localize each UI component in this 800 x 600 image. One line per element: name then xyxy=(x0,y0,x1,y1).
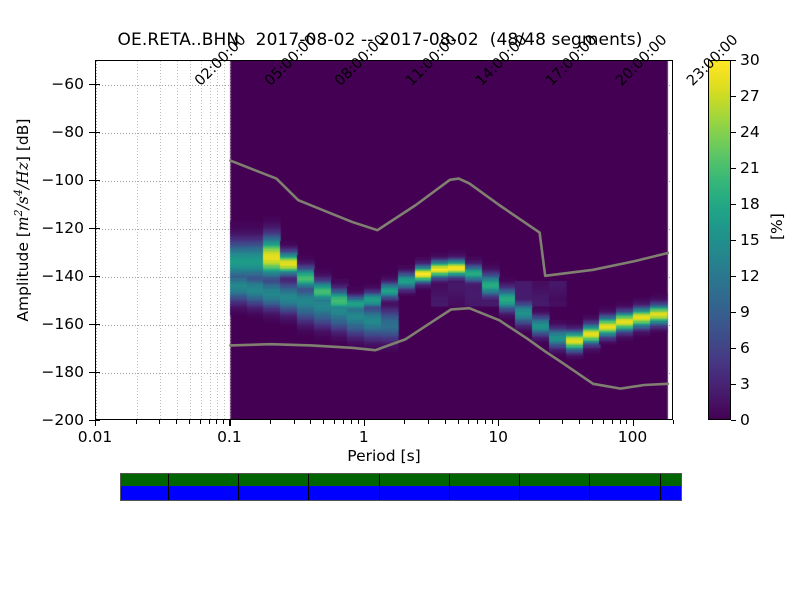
x-axis-tick-minor xyxy=(603,420,604,424)
x-axis-tick-minor xyxy=(323,420,324,424)
colorbar-tick xyxy=(731,420,736,421)
x-axis-title: Period [s] xyxy=(95,447,673,465)
x-axis-tick-major xyxy=(229,420,230,426)
x-axis-tick-minor xyxy=(485,420,486,424)
y-axis-tick-inner xyxy=(95,84,100,85)
coverage-band-bottom xyxy=(121,486,681,500)
coverage-band-top xyxy=(121,474,681,486)
x-axis-tick-minor xyxy=(673,420,674,424)
colorbar-title: [%] xyxy=(768,213,786,240)
x-axis-tick-minor xyxy=(404,420,405,424)
x-axis-tick-minor xyxy=(626,420,627,424)
colorbar-tick xyxy=(731,60,736,61)
y-axis-title-tail: ] [dB] xyxy=(14,119,32,163)
x-axis-tick-major xyxy=(633,420,634,426)
y-axis-tick-label: −200 xyxy=(0,411,84,429)
colorbar-tick-label: 12 xyxy=(740,267,760,285)
x-axis-tick-minor xyxy=(343,420,344,424)
colorbar-tick xyxy=(731,276,736,277)
x-axis-tick-minor xyxy=(620,420,621,424)
nlnm-curve xyxy=(230,308,667,388)
y-axis-title-text: Amplitude [ xyxy=(14,231,32,321)
y-axis-tick-inner xyxy=(95,132,100,133)
y-axis-tick-inner xyxy=(95,180,100,181)
x-axis-tick-minor xyxy=(612,420,613,424)
x-axis-tick-minor xyxy=(492,420,493,424)
colorbar-tick-label: 9 xyxy=(740,303,750,321)
colorbar-tick xyxy=(731,384,736,385)
x-axis-tick-minor xyxy=(477,420,478,424)
x-axis-tick-minor xyxy=(428,420,429,424)
colorbar-tick xyxy=(731,240,736,241)
y-axis-tick-inner xyxy=(95,324,100,325)
x-axis-tick-minor xyxy=(334,420,335,424)
colorbar-tick-label: 3 xyxy=(740,375,750,393)
y-axis-tick-inner xyxy=(95,372,100,373)
x-axis-tick-minor xyxy=(216,420,217,424)
x-axis-tick-minor xyxy=(159,420,160,424)
x-axis-tick-minor xyxy=(209,420,210,424)
colorbar-tick-label: 18 xyxy=(740,195,760,213)
x-axis-tick-label: 0.1 xyxy=(217,428,242,446)
coverage-tick xyxy=(519,474,520,500)
x-axis-tick-label: 0.01 xyxy=(78,428,113,446)
colorbar-tick xyxy=(731,348,736,349)
x-axis-tick-minor xyxy=(358,420,359,424)
coverage-tick xyxy=(589,474,590,500)
coverage-tick xyxy=(660,474,661,500)
y-axis-title-units: m2/s4/Hz xyxy=(14,162,32,231)
coverage-tick xyxy=(379,474,380,500)
coverage-tick xyxy=(308,474,309,500)
x-axis-tick-minor xyxy=(294,420,295,424)
colorbar-tick-label: 27 xyxy=(740,87,760,105)
x-axis-tick-minor xyxy=(445,420,446,424)
colorbar-tick-label: 15 xyxy=(740,231,760,249)
x-axis-tick-minor xyxy=(468,420,469,424)
colorbar-tick xyxy=(731,132,736,133)
x-axis-tick-minor xyxy=(310,420,311,424)
x-axis-tick-minor xyxy=(562,420,563,424)
colorbar-gradient xyxy=(709,61,730,419)
coverage-tick xyxy=(168,474,169,500)
coverage-tick xyxy=(449,474,450,500)
x-axis-tick-label: 1 xyxy=(359,428,369,446)
x-axis-tick-minor xyxy=(200,420,201,424)
x-axis-tick-minor xyxy=(176,420,177,424)
colorbar-tick-label: 6 xyxy=(740,339,750,357)
noise-model-curves xyxy=(96,61,673,420)
x-axis-tick-minor xyxy=(189,420,190,424)
x-axis-tick-minor xyxy=(136,420,137,424)
x-axis-tick-label: 10 xyxy=(488,428,508,446)
nhnm-curve xyxy=(230,161,667,276)
x-axis-tick-major xyxy=(498,420,499,426)
x-axis-tick-minor xyxy=(579,420,580,424)
colorbar xyxy=(708,60,731,420)
ppsd-plot-area[interactable] xyxy=(95,60,673,420)
x-axis-tick-minor xyxy=(270,420,271,424)
x-axis-tick-minor xyxy=(458,420,459,424)
y-axis-title: Amplitude [m2/s4/Hz] [dB] xyxy=(12,70,32,370)
colorbar-tick xyxy=(731,312,736,313)
x-axis-tick-minor xyxy=(223,420,224,424)
y-axis-tick-inner xyxy=(95,228,100,229)
colorbar-tick xyxy=(731,96,736,97)
coverage-tick xyxy=(238,474,239,500)
x-axis-tick-minor xyxy=(539,420,540,424)
colorbar-tick-label: 21 xyxy=(740,159,760,177)
coverage-bar[interactable] xyxy=(120,473,682,501)
x-axis-tick-minor xyxy=(351,420,352,424)
ppsd-figure: OE.RETA..BHN 2017-08-02 -- 2017-08-02 (4… xyxy=(0,0,800,600)
x-axis-tick-minor xyxy=(592,420,593,424)
colorbar-tick-label: 0 xyxy=(740,411,750,429)
colorbar-tick-label: 30 xyxy=(740,51,760,69)
x-axis-tick-major xyxy=(364,420,365,426)
x-axis-tick-label: 100 xyxy=(618,428,648,446)
colorbar-tick xyxy=(731,168,736,169)
x-axis-tick-major xyxy=(95,420,96,426)
colorbar-tick xyxy=(731,204,736,205)
y-axis-tick-inner xyxy=(95,276,100,277)
colorbar-tick-label: 24 xyxy=(740,123,760,141)
